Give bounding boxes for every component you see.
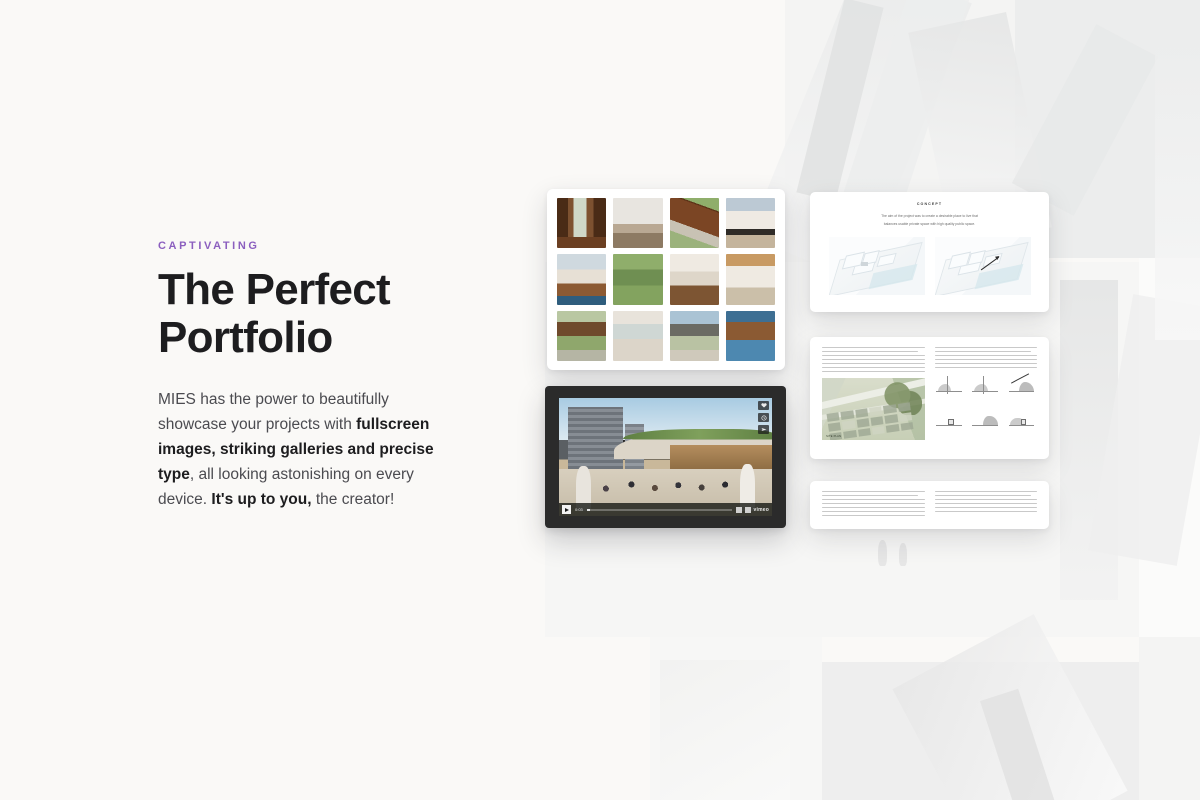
gallery-thumbnail[interactable]	[670, 254, 719, 304]
site-plan-label: SITE PLAN	[826, 435, 841, 438]
right-text-column	[935, 491, 1038, 519]
settings-icon[interactable]	[736, 507, 742, 513]
page-title: The Perfect Portfolio	[158, 266, 448, 361]
paragraph-part-3: the creator!	[312, 491, 395, 508]
spread-columns	[822, 491, 1037, 519]
left-text-column: SITE PLAN	[822, 347, 925, 449]
right-text-column	[935, 347, 1038, 449]
body-text-lines	[822, 491, 925, 516]
body-text-lines	[935, 491, 1038, 512]
concept-slide-title: CONCEPT	[824, 202, 1035, 206]
hero-copy-block: CAPTIVATING The Perfect Portfolio MIES h…	[158, 240, 458, 513]
concept-slide-subtitle-line-1: The aim of the project was to create a d…	[855, 213, 1005, 219]
video-interior	[670, 445, 772, 471]
background-architecture-shape	[1088, 294, 1200, 566]
vimeo-logo[interactable]: vimeo	[754, 507, 769, 513]
section-diagram	[971, 374, 1001, 403]
share-icon[interactable]	[758, 425, 769, 434]
section-diagram	[1007, 408, 1037, 437]
concept-slide-card[interactable]: CONCEPT The aim of the project was to cr…	[810, 192, 1049, 312]
paragraph-bold-2: It's up to you,	[211, 491, 311, 508]
axonometric-diagram-right	[935, 237, 1031, 295]
concept-slide-subtitle-line-2: balances usable private space with high …	[855, 221, 1005, 227]
axonometric-diagram-left	[829, 237, 925, 295]
body-text-lines	[822, 347, 925, 372]
spread-columns: SITE PLAN	[822, 347, 1037, 449]
video-controls-right: vimeo	[736, 507, 769, 513]
background-panel	[822, 662, 1139, 800]
background-architecture-shape	[660, 660, 790, 800]
axo-marker	[861, 262, 868, 266]
text-spread-card[interactable]	[810, 481, 1049, 529]
paragraph-part-1: MIES has the power to beautifully showca…	[158, 391, 389, 433]
hero-paragraph: MIES has the power to beautifully showca…	[158, 387, 454, 513]
video-timecode: 0:03	[575, 507, 583, 512]
gallery-thumbnail[interactable]	[670, 311, 719, 361]
background-figure-silhouette	[899, 543, 907, 566]
page-stage: CAPTIVATING The Perfect Portfolio MIES h…	[0, 0, 1200, 800]
video-building	[568, 407, 623, 468]
progress-scrubber[interactable]	[587, 509, 732, 511]
gallery-thumbnail[interactable]	[613, 254, 662, 304]
video-poster[interactable]: 0:03 vimeo	[559, 398, 772, 516]
background-figure-silhouette	[878, 540, 887, 566]
fullscreen-icon[interactable]	[745, 507, 751, 513]
section-diagram	[935, 374, 965, 403]
portfolio-gallery-grid	[557, 198, 775, 361]
gallery-thumbnail[interactable]	[557, 254, 606, 304]
background-architecture-shape	[1012, 24, 1158, 216]
video-controls-bar: 0:03 vimeo	[559, 503, 772, 516]
gallery-thumbnail[interactable]	[557, 311, 606, 361]
background-architecture-shape	[1060, 280, 1118, 600]
concept-figures	[824, 237, 1035, 295]
aerial-site-plan: SITE PLAN	[822, 378, 925, 440]
section-diagram-grid	[935, 374, 1038, 436]
background-architecture-shape	[1155, 40, 1200, 340]
gallery-card	[547, 189, 785, 370]
background-architecture-shape	[796, 0, 883, 202]
play-button[interactable]	[562, 505, 571, 514]
gallery-thumbnail[interactable]	[613, 198, 662, 248]
background-architecture-shape	[892, 614, 1127, 800]
section-diagram	[1007, 374, 1037, 403]
gallery-thumbnail[interactable]	[726, 198, 775, 248]
background-panel	[650, 637, 822, 800]
background-panel	[1139, 258, 1200, 638]
background-architecture-shape	[843, 0, 977, 213]
like-icon[interactable]	[758, 401, 769, 410]
left-text-column	[822, 491, 925, 519]
gallery-thumbnail[interactable]	[670, 198, 719, 248]
gallery-thumbnail[interactable]	[726, 311, 775, 361]
section-diagram	[971, 408, 1001, 437]
watch-later-icon[interactable]	[758, 413, 769, 422]
gallery-thumbnail[interactable]	[557, 198, 606, 248]
site-analysis-spread-card[interactable]: SITE PLAN	[810, 337, 1049, 459]
section-diagram	[935, 408, 965, 437]
gallery-thumbnail[interactable]	[726, 254, 775, 304]
gallery-thumbnail[interactable]	[613, 311, 662, 361]
background-panel	[1139, 637, 1200, 800]
body-text-lines	[935, 347, 1038, 368]
video-side-buttons	[758, 401, 769, 434]
eyebrow-label: CAPTIVATING	[158, 240, 458, 252]
video-player-card: 0:03 vimeo	[545, 386, 786, 528]
background-architecture-shape	[980, 689, 1080, 800]
